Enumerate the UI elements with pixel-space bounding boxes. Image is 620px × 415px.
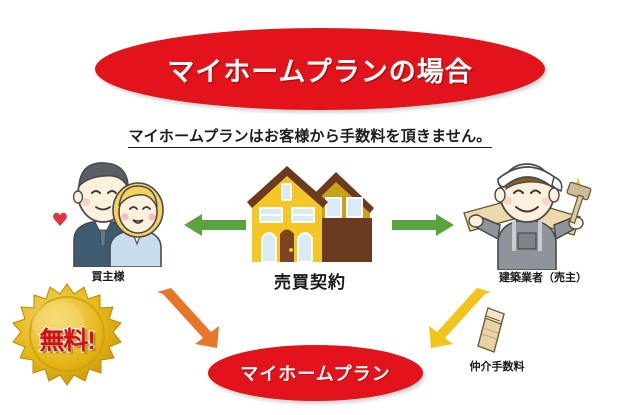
arrow-left-green [184, 212, 246, 243]
house-icon [246, 166, 374, 266]
arrow-left-icon [184, 212, 246, 238]
node-brokerage-fee-label: 仲介手数料 [447, 358, 547, 374]
plan-ellipse: マイホームプラン [208, 345, 423, 401]
node-builder-label: 建築業者（売主） [478, 269, 608, 285]
node-buyer-label: 買主様 [58, 268, 158, 284]
diagram-canvas: マイホームプランの場合 マイホームプランはお客様から手数料を頂きません。 [0, 0, 620, 415]
heart-icon [53, 213, 67, 226]
node-buyer [48, 152, 168, 267]
node-contract [246, 166, 374, 266]
subtitle-note: マイホームプランはお客様から手数料を頂きません。 [0, 125, 620, 146]
carpenter-icon [462, 155, 592, 270]
free-badge-label: 無料! [12, 321, 122, 357]
arrow-right-green [392, 212, 454, 243]
money-envelope-icon [472, 306, 516, 354]
arrow-right-icon [392, 212, 454, 238]
arrow-diagonal-orange [155, 288, 225, 350]
title-ellipse: マイホームプランの場合 [95, 28, 545, 110]
node-plan-label: マイホームプラン [208, 345, 423, 401]
page-title: マイホームプランの場合 [95, 28, 545, 110]
node-builder [462, 155, 592, 270]
subtitle-text: マイホームプランはお客様から手数料を頂きません。 [128, 128, 491, 148]
node-contract-label: 売買契約 [250, 268, 370, 293]
node-brokerage-fee [472, 306, 516, 354]
couple-icon [48, 152, 168, 267]
free-badge: 無料! [12, 283, 122, 391]
arrow-down-right-icon [155, 288, 225, 350]
